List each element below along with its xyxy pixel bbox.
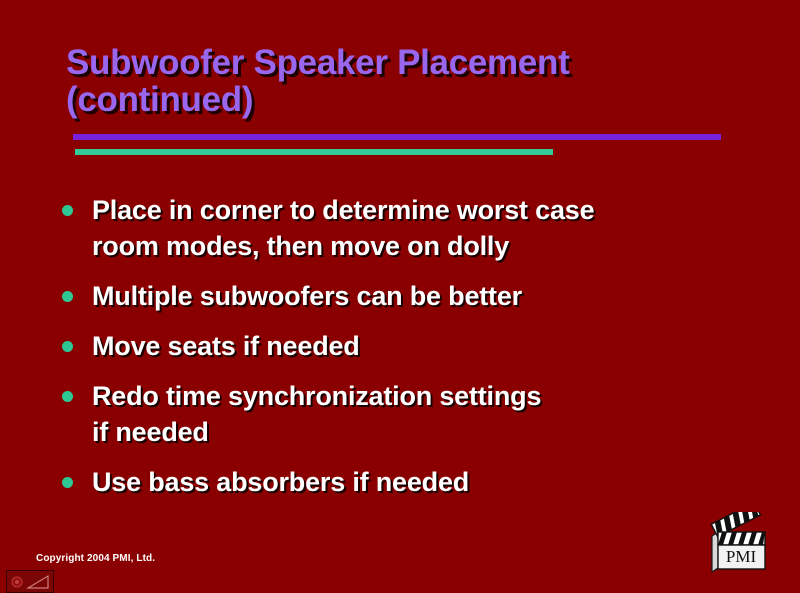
list-item-label: Redo time synchronization settings if ne…	[92, 378, 762, 450]
bullet-dot-icon	[62, 341, 73, 352]
page-title: Subwoofer Speaker Placement (continued)	[66, 44, 766, 118]
pmi-clapperboard-logo: PMI	[703, 512, 769, 574]
copyright-text: Copyright 2004 PMI, Ltd.	[36, 553, 155, 564]
list-item: Move seats if needed	[62, 328, 762, 364]
list-item-label: Use bass absorbers if needed	[92, 464, 762, 500]
list-item: Redo time synchronization settings if ne…	[62, 378, 762, 450]
list-item: Multiple subwoofers can be better	[62, 278, 762, 314]
list-item-label: Multiple subwoofers can be better	[92, 278, 762, 314]
rose-icon	[12, 577, 22, 587]
bullet-list: Place in corner to determine worst case …	[62, 192, 762, 514]
pmi-logo-label: PMI	[726, 547, 757, 566]
title-block: Subwoofer Speaker Placement (continued)	[66, 44, 766, 118]
bullet-dot-icon	[62, 291, 73, 302]
divider-rule-teal	[75, 149, 553, 155]
divider-rule-purple	[73, 134, 721, 140]
bullet-dot-icon	[62, 205, 73, 216]
list-item: Use bass absorbers if needed	[62, 464, 762, 500]
list-item-label: Place in corner to determine worst case …	[92, 192, 762, 264]
slide-canvas: Subwoofer Speaker Placement (continued) …	[0, 0, 800, 593]
bullet-dot-icon	[62, 391, 73, 402]
list-item: Place in corner to determine worst case …	[62, 192, 762, 264]
bullet-dot-icon	[62, 477, 73, 488]
corner-toolbar-widget[interactable]	[6, 570, 54, 593]
list-item-label: Move seats if needed	[92, 328, 762, 364]
